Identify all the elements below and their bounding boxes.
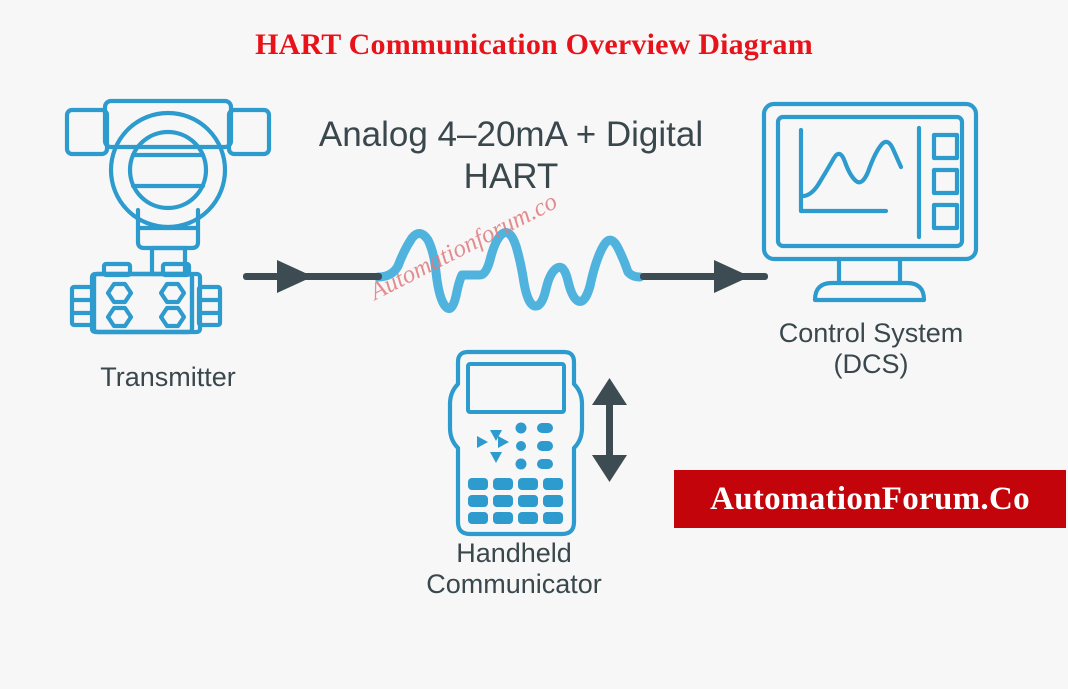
diagram-canvas: HART Communication Overview Diagram Anal… xyxy=(0,0,1068,689)
site-logo-badge: AutomationForum.Co xyxy=(674,470,1066,528)
arrow-up-down-icon xyxy=(0,0,1068,689)
site-logo-text: AutomationForum.Co xyxy=(710,481,1030,518)
